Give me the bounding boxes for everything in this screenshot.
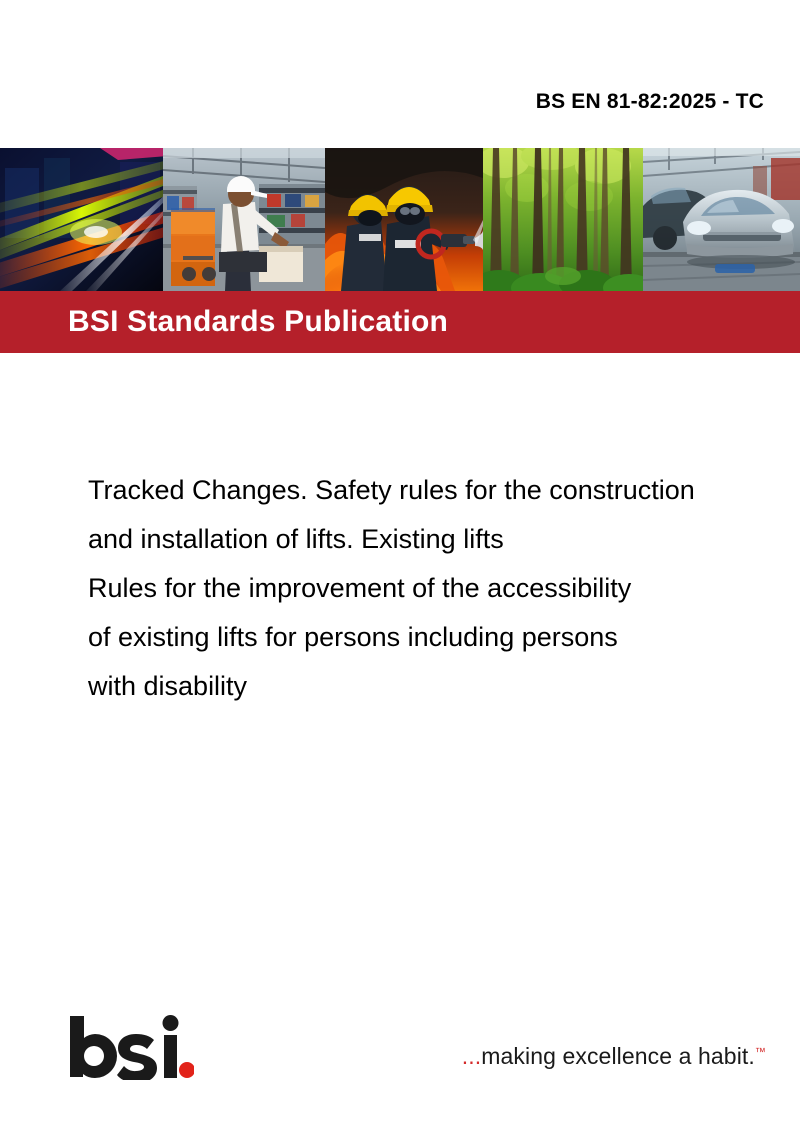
light-trails-photo xyxy=(0,148,163,291)
document-reference: BS EN 81-82:2025 - TC xyxy=(536,90,764,114)
document-title: Tracked Changes. Safety rules for the co… xyxy=(88,466,800,711)
title-line-5: with disability xyxy=(88,662,800,711)
trademark-symbol: ™ xyxy=(755,1046,766,1058)
forest-photo xyxy=(483,148,643,291)
bsi-logo xyxy=(68,1014,194,1080)
car-production-photo xyxy=(643,148,800,291)
cover-banner: BSI Standards Publication xyxy=(0,148,800,353)
firefighters-photo xyxy=(325,148,483,291)
bsi-standards-band-label: BSI Standards Publication xyxy=(68,305,448,339)
banner-photo-strip xyxy=(0,148,800,291)
title-line-1: Tracked Changes. Safety rules for the co… xyxy=(88,466,800,515)
tagline-ellipsis: ... xyxy=(462,1043,481,1069)
title-line-2: and installation of lifts. Existing lift… xyxy=(88,515,800,564)
document-cover-page: BS EN 81-82:2025 - TC xyxy=(0,0,800,1132)
bsi-standards-band: BSI Standards Publication xyxy=(0,291,800,353)
tagline-text: making excellence a habit. xyxy=(481,1043,755,1069)
bsi-tagline: ...making excellence a habit.™ xyxy=(462,1043,766,1070)
factory-worker-photo xyxy=(163,148,325,291)
title-line-3: Rules for the improvement of the accessi… xyxy=(88,564,800,613)
title-line-4: of existing lifts for persons including … xyxy=(88,613,800,662)
